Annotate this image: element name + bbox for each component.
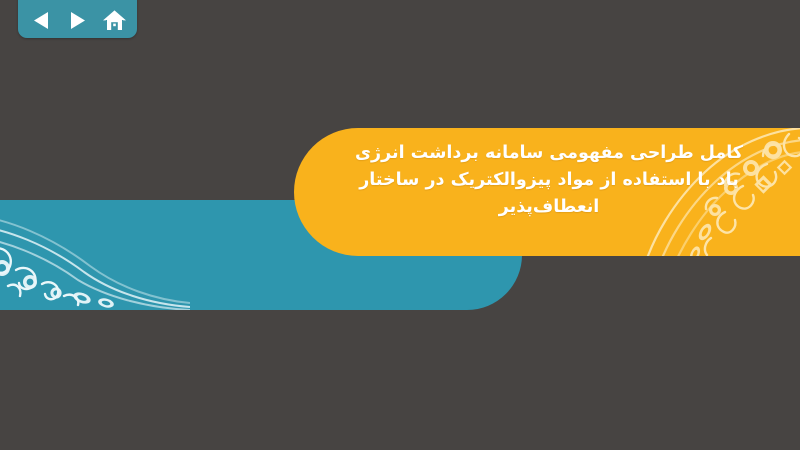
previous-slide-button[interactable] bbox=[28, 8, 54, 32]
home-button[interactable] bbox=[101, 8, 127, 32]
title-line-2: باد با استفاده از مواد پیزوالکتریک در سا… bbox=[359, 167, 739, 194]
title-line-3: انعطاف‌پذیر bbox=[499, 194, 600, 221]
home-icon bbox=[103, 10, 126, 31]
slide-title: کامل طراحی مفهومی سامانه برداشت انرژی با… bbox=[294, 128, 800, 256]
title-banner: کامل طراحی مفهومی سامانه برداشت انرژی با… bbox=[294, 128, 800, 256]
slide-navigation-bar bbox=[18, 0, 137, 38]
arabesque-corner-ornament bbox=[0, 200, 190, 310]
next-slide-button[interactable] bbox=[65, 8, 91, 32]
title-line-1: کامل طراحی مفهومی سامانه برداشت انرژی bbox=[355, 140, 743, 167]
triangle-left-icon bbox=[33, 11, 50, 30]
presentation-slide: کامل طراحی مفهومی سامانه برداشت انرژی با… bbox=[0, 0, 800, 450]
triangle-right-icon bbox=[69, 11, 86, 30]
